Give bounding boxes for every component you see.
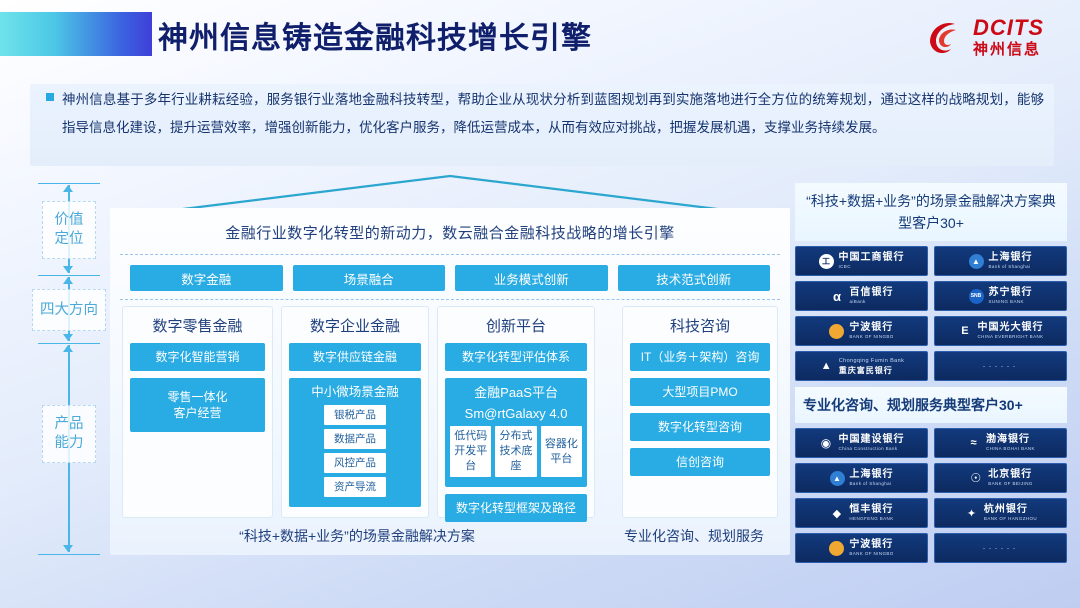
customers-heading-1: “科技+数据+业务”的场景金融解决方案典型客户30+ — [795, 183, 1067, 241]
group-title: 中小微场景金融 — [294, 384, 416, 400]
tile-digital-transformation-consulting[interactable]: 数字化转型咨询 — [630, 413, 770, 441]
paas-title-line2: Sm@rtGalaxy 4.0 — [450, 405, 582, 422]
column-innovation-platform: 创新平台 数字化转型评估体系 金融PaaS平台 Sm@rtGalaxy 4.0 … — [437, 306, 595, 518]
chip-tax-bank-product[interactable]: 银税产品 — [324, 405, 386, 425]
column-digital-enterprise-finance: 数字企业金融 数字供应链金融 中小微场景金融 银税产品 数据产品 风控产品 资产… — [281, 306, 429, 518]
bank-of-beijing-logo-icon: ☉ — [968, 471, 983, 486]
four-directions-row: 数字金融 场景融合 业务模式创新 技术范式创新 — [130, 265, 770, 291]
bank-name-en: Bank of Shanghai — [850, 482, 894, 487]
bank-name-cn: 中国建设银行 — [839, 435, 905, 445]
bank-name-cn: 百信银行 — [850, 288, 894, 298]
bank-name-en: Bank of Shanghai — [989, 265, 1033, 270]
bank-tile-more-2[interactable]: ······ — [934, 533, 1067, 563]
bank-tile-fumin[interactable]: ▲ Chongqing Fumin Bank 重庆富民银行 — [795, 351, 928, 381]
bank-name-cn: 杭州银行 — [984, 505, 1037, 515]
suning-bank-logo-icon: SNB — [969, 289, 984, 304]
brand-logo: DCITS 神州信息 — [924, 14, 1044, 60]
column-title: 数字零售金融 — [130, 315, 265, 336]
bank-name-en: SUNING BANK — [989, 300, 1033, 305]
tile-supply-chain-finance[interactable]: 数字供应链金融 — [289, 343, 421, 371]
caption-consulting-planning-service: 专业化咨询、规划服务 — [610, 526, 778, 546]
ellipsis-icon: ······ — [983, 543, 1019, 553]
column-technology-consulting: 科技咨询 IT（业务＋架构）咨询 大型项目PMO 数字化转型咨询 信创咨询 — [622, 306, 778, 518]
aibank-logo-icon: α — [830, 289, 845, 304]
tile-retail-integrated-operation[interactable]: 零售一体化 客户经营 — [130, 378, 265, 432]
bank-tile-suning[interactable]: SNB 苏宁银行 SUNING BANK — [934, 281, 1067, 311]
bank-name-cn: 上海银行 — [850, 470, 894, 480]
everbright-bank-logo-icon: E — [957, 324, 972, 339]
bank-name-cn: 重庆富民银行 — [839, 367, 904, 375]
bank-tile-bohai[interactable]: ≈ 渤海银行 CHINA BOHAI BANK — [934, 428, 1067, 458]
bank-name-en: CHINA EVERBRIGHT BANK — [977, 335, 1043, 340]
bank-name-cn: 中国工商银行 — [839, 253, 905, 263]
tile-line-1: 零售一体化 — [133, 389, 262, 405]
paas-title-line1: 金融PaaS平台 — [450, 384, 582, 401]
chip-lowcode-platform[interactable]: 低代码开发平台 — [450, 426, 491, 477]
direction-business-model-innovation[interactable]: 业务模式创新 — [455, 265, 608, 291]
square-bullet-icon — [46, 93, 54, 101]
chip-distributed-tech-base[interactable]: 分布式技术底座 — [495, 426, 536, 477]
slide-root: 神州信息铸造金融科技增长引擎 DCITS 神州信息 神州信息基于多年行业耕耘经验… — [0, 0, 1080, 608]
value-rail: 价值 定位 四大方向 产品 能力 — [38, 183, 100, 555]
intro-text: 神州信息基于多年行业耕耘经验，服务银行业落地金融科技转型，帮助企业从现状分析到蓝… — [62, 86, 1044, 142]
bank-name-cn: 宁波银行 — [849, 540, 893, 550]
tile-line-2: 客户经营 — [133, 405, 262, 421]
bank-tile-more-1[interactable]: ······ — [934, 351, 1067, 381]
column-title: 创新平台 — [445, 315, 587, 336]
tile-smart-marketing[interactable]: 数字化智能营销 — [130, 343, 265, 371]
bohai-bank-logo-icon: ≈ — [966, 436, 981, 451]
logo-wordmark-en: DCITS — [973, 17, 1044, 39]
logo-wordmark-cn: 神州信息 — [973, 42, 1044, 57]
fumin-bank-logo-icon: ▲ — [819, 359, 834, 374]
bank-name-en: BANK OF NINGBO — [849, 335, 893, 340]
bank-of-ningbo-logo-icon — [829, 324, 844, 339]
bank-tile-shanghai-2[interactable]: ▲ 上海银行 Bank of Shanghai — [795, 463, 928, 493]
bank-name-cn: 苏宁银行 — [989, 288, 1033, 298]
chip-data-product[interactable]: 数据产品 — [324, 429, 386, 449]
bank-name-en: BANK OF NINGBO — [849, 552, 893, 557]
bank-name-cn: 北京银行 — [988, 470, 1033, 480]
rail-chip-four-directions: 四大方向 — [32, 289, 106, 331]
chip-asset-routing[interactable]: 资产导流 — [324, 477, 386, 497]
tile-xinchuang-consulting[interactable]: 信创咨询 — [630, 448, 770, 476]
column-digital-retail-finance: 数字零售金融 数字化智能营销 零售一体化 客户经营 — [122, 306, 273, 518]
caption-scenario-finance-solution: “科技+数据+业务”的场景金融解决方案 — [122, 526, 592, 546]
bank-name-cn: 上海银行 — [989, 253, 1033, 263]
rail-chip-value-positioning: 价值 定位 — [42, 201, 96, 259]
group-financial-paas[interactable]: 金融PaaS平台 Sm@rtGalaxy 4.0 低代码开发平台 分布式技术底座… — [445, 378, 587, 487]
bank-name-cn: 渤海银行 — [986, 435, 1035, 445]
tile-large-project-pmo[interactable]: 大型项目PMO — [630, 378, 770, 406]
icbc-logo-icon: 工 — [819, 254, 834, 269]
column-title: 科技咨询 — [630, 315, 770, 336]
bank-tile-beijing[interactable]: ☉ 北京银行 BANK OF BEIJING — [934, 463, 1067, 493]
bank-tile-shanghai[interactable]: ▲ 上海银行 Bank of Shanghai — [934, 246, 1067, 276]
bank-name-en: aiBank — [850, 300, 894, 305]
bank-of-shanghai-logo-icon: ▲ — [830, 471, 845, 486]
direction-tech-paradigm-innovation[interactable]: 技术范式创新 — [618, 265, 771, 291]
bank-name-en: CHINA BOHAI BANK — [986, 447, 1035, 452]
bank-name-en: ICBC — [839, 265, 905, 270]
bank-tile-ningbo[interactable]: 宁波银行 BANK OF NINGBO — [795, 316, 928, 346]
page-title: 神州信息铸造金融科技增长引擎 — [158, 13, 592, 57]
divider-top — [120, 254, 780, 255]
chip-risk-control-product[interactable]: 风控产品 — [324, 453, 386, 473]
header-accent-band — [0, 12, 152, 56]
customers-heading-2: 专业化咨询、规划服务典型客户30+ — [795, 387, 1067, 423]
group-sme-scenario-finance[interactable]: 中小微场景金融 银税产品 数据产品 风控产品 资产导流 — [289, 378, 421, 507]
bank-name-cn: 恒丰银行 — [849, 505, 893, 515]
capability-columns: 数字零售金融 数字化智能营销 零售一体化 客户经营 数字企业金融 数字供应链金融… — [122, 306, 778, 518]
bank-name-en: BANK OF HANGZHOU — [984, 517, 1037, 522]
bank-tile-icbc[interactable]: 工 中国工商银行 ICBC — [795, 246, 928, 276]
ccb-logo-icon: ◉ — [819, 436, 834, 451]
bank-of-hangzhou-logo-icon: ✦ — [964, 506, 979, 521]
tile-transformation-assessment[interactable]: 数字化转型评估体系 — [445, 343, 587, 371]
bank-tile-ningbo-2[interactable]: 宁波银行 BANK OF NINGBO — [795, 533, 928, 563]
bank-of-ningbo-logo-icon — [829, 541, 844, 556]
tile-transformation-framework[interactable]: 数字化转型框架及路径 — [445, 494, 587, 522]
bank-tile-everbright[interactable]: E 中国光大银行 CHINA EVERBRIGHT BANK — [934, 316, 1067, 346]
divider-bottom — [120, 299, 780, 300]
customers-panel: “科技+数据+业务”的场景金融解决方案典型客户30+ 工 中国工商银行 ICBC… — [795, 183, 1067, 555]
intro-panel: 神州信息基于多年行业耕耘经验，服务银行业落地金融科技转型，帮助企业从现状分析到蓝… — [30, 84, 1054, 166]
column-title: 数字企业金融 — [289, 315, 421, 336]
bank-tile-aibank[interactable]: α 百信银行 aiBank — [795, 281, 928, 311]
bank-tile-hengfeng[interactable]: ◆ 恒丰银行 HENGFENG BANK — [795, 498, 928, 528]
dcits-swirl-icon — [924, 16, 966, 58]
bank-name-en: Chongqing Fumin Bank — [839, 359, 904, 365]
direction-digital-finance[interactable]: 数字金融 — [130, 265, 283, 291]
bank-name-en: China Construction Bank — [839, 447, 905, 452]
bank-name-cn: 宁波银行 — [849, 323, 893, 333]
middle-headline: 金融行业数字化转型的新动力，数云融合金融科技战略的增长引擎 — [110, 222, 790, 243]
bank-of-shanghai-logo-icon: ▲ — [969, 254, 984, 269]
chip-container-platform[interactable]: 容器化平台 — [541, 426, 582, 477]
bank-name-cn: 中国光大银行 — [977, 323, 1043, 333]
bank-logo-grid-1: 工 中国工商银行 ICBC ▲ 上海银行 Bank of Shanghai α … — [795, 246, 1067, 381]
direction-scenario-integration[interactable]: 场景融合 — [293, 265, 446, 291]
bank-tile-ccb[interactable]: ◉ 中国建设银行 China Construction Bank — [795, 428, 928, 458]
ellipsis-icon: ······ — [983, 361, 1019, 371]
bank-logo-grid-2: ◉ 中国建设银行 China Construction Bank ≈ 渤海银行 … — [795, 428, 1067, 563]
rail-chip-product-capability: 产品 能力 — [42, 405, 96, 463]
hengfeng-bank-logo-icon: ◆ — [829, 506, 844, 521]
tile-it-consulting[interactable]: IT（业务＋架构）咨询 — [630, 343, 770, 371]
bank-name-en: BANK OF BEIJING — [988, 482, 1033, 487]
bank-tile-hangzhou[interactable]: ✦ 杭州银行 BANK OF HANGZHOU — [934, 498, 1067, 528]
middle-panel: 金融行业数字化转型的新动力，数云融合金融科技战略的增长引擎 数字金融 场景融合 … — [110, 208, 790, 555]
bank-name-en: HENGFENG BANK — [849, 517, 893, 522]
